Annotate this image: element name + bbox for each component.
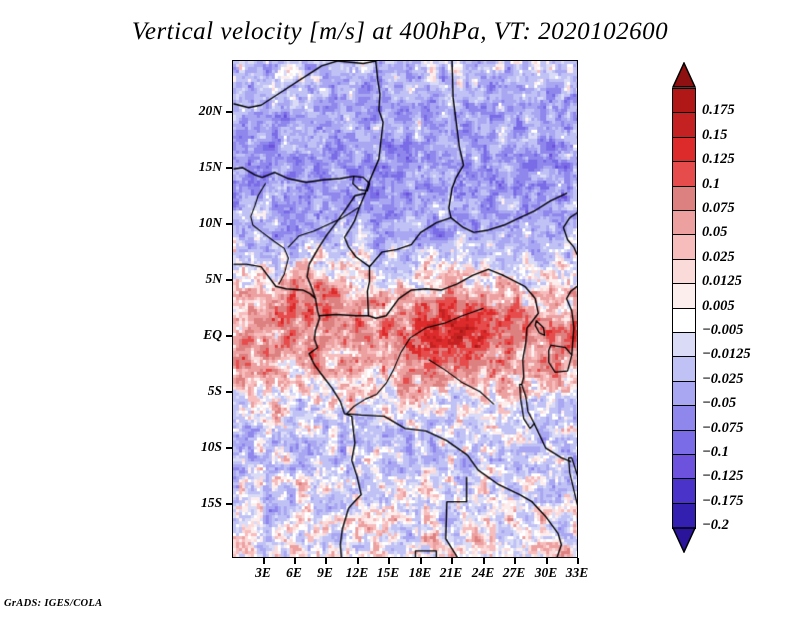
colorbar: 0.1750.150.1250.10.0750.050.0250.01250.0… [668, 62, 798, 557]
y-tick-mark [226, 223, 232, 225]
colorbar-band [672, 234, 696, 260]
colorbar-band [672, 308, 696, 334]
colorbar-band [672, 503, 696, 529]
colorbar-tick-label: 0.025 [702, 250, 735, 265]
colorbar-band [672, 356, 696, 382]
colorbar-tick-label: 0.075 [702, 201, 735, 216]
colorbar-band [672, 332, 696, 358]
colorbar-band [672, 112, 696, 138]
colorbar-band [672, 283, 696, 309]
colorbar-tick-label: −0.05 [702, 396, 736, 411]
colorbar-tick-label: −0.2 [702, 518, 729, 533]
colorbar-band [672, 381, 696, 407]
colorbar-tick-label: 0.15 [702, 128, 727, 143]
colorbar-tick-label: −0.025 [702, 372, 743, 387]
x-tick-mark [451, 558, 453, 564]
x-tick-mark [388, 558, 390, 564]
colorbar-tick-label: −0.005 [702, 323, 743, 338]
x-tick-mark [325, 558, 327, 564]
y-tick-label: EQ [162, 327, 222, 343]
colorbar-tick-label: −0.0125 [702, 347, 751, 362]
map-plot-area [232, 60, 578, 558]
x-tick-mark [357, 558, 359, 564]
colorbar-tick-label: 0.0125 [702, 274, 742, 289]
colorbar-tick-label: 0.125 [702, 152, 735, 167]
y-tick-mark [226, 335, 232, 337]
x-tick-mark [546, 558, 548, 564]
y-tick-mark [226, 447, 232, 449]
colorbar-tick-label: −0.175 [702, 494, 743, 509]
colorbar-tick-label: 0.1 [702, 177, 720, 192]
credit-text: GrADS: IGES/COLA [4, 598, 102, 609]
x-tick-mark [420, 558, 422, 564]
colorbar-band [672, 478, 696, 504]
colorbar-band [672, 259, 696, 285]
colorbar-tick-label: 0.05 [702, 225, 727, 240]
colorbar-band [672, 186, 696, 212]
colorbar-band [672, 88, 696, 114]
colorbar-tick-label: 0.005 [702, 299, 735, 314]
colorbar-band [672, 210, 696, 236]
y-tick-mark [226, 503, 232, 505]
vertical-velocity-heatmap [233, 61, 577, 557]
y-tick-label: 20N [162, 103, 222, 119]
y-tick-label: 5N [162, 271, 222, 287]
colorbar-tick-label: −0.1 [702, 445, 729, 460]
y-tick-label: 15S [162, 495, 222, 511]
colorbar-band [672, 454, 696, 480]
y-axis: 20N15N10N5NEQ5S10S15S [0, 0, 232, 618]
colorbar-band [672, 405, 696, 431]
y-tick-mark [226, 391, 232, 393]
colorbar-band [672, 161, 696, 187]
x-tick-mark [294, 558, 296, 564]
y-tick-label: 5S [162, 383, 222, 399]
y-tick-mark [226, 111, 232, 113]
x-tick-mark [514, 558, 516, 564]
y-tick-label: 10N [162, 215, 222, 231]
x-tick-label: 33E [557, 565, 597, 581]
y-tick-mark [226, 279, 232, 281]
y-tick-label: 15N [162, 159, 222, 175]
colorbar-tick-label: 0.175 [702, 103, 735, 118]
x-tick-mark [263, 558, 265, 564]
colorbar-tick-label: −0.125 [702, 469, 743, 484]
y-tick-mark [226, 167, 232, 169]
x-tick-mark [577, 558, 579, 564]
y-tick-label: 10S [162, 439, 222, 455]
colorbar-band [672, 137, 696, 163]
x-tick-mark [483, 558, 485, 564]
colorbar-tick-label: −0.075 [702, 421, 743, 436]
colorbar-max-arrow [672, 62, 696, 88]
colorbar-min-arrow [672, 527, 696, 553]
colorbar-band [672, 430, 696, 456]
